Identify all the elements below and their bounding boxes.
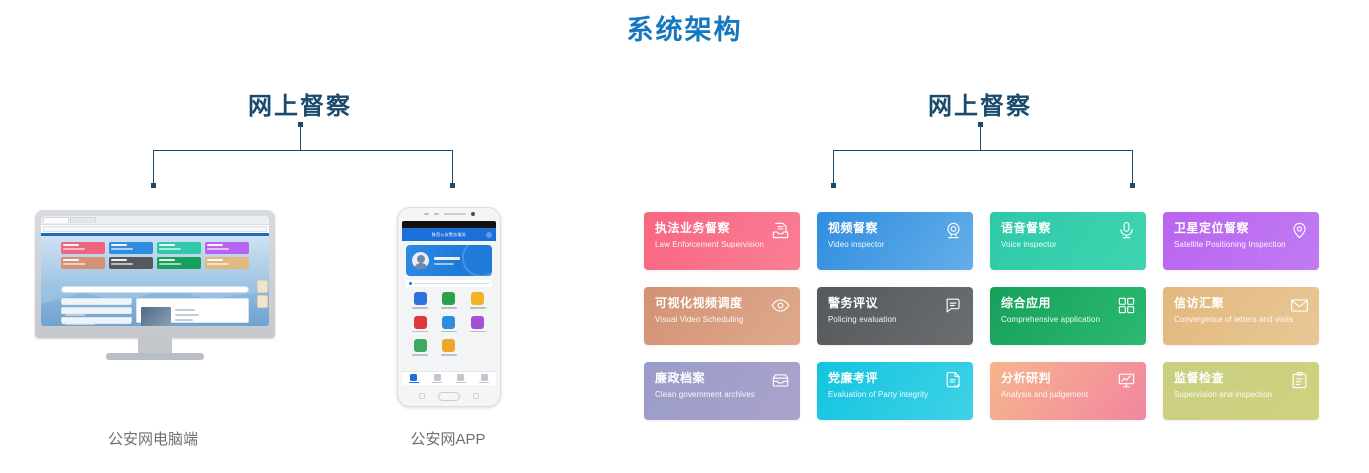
portal-mini-card xyxy=(205,257,249,269)
map-pin-icon xyxy=(1290,221,1309,240)
inbox-document-icon xyxy=(771,221,790,240)
grid-squares-icon xyxy=(1117,296,1136,315)
app-grid-item[interactable] xyxy=(435,339,464,356)
app-grid-item[interactable] xyxy=(435,316,464,333)
module-card-title-cn: 监督检查 xyxy=(1174,372,1308,384)
portal-mini-card xyxy=(157,242,201,254)
avatar xyxy=(412,252,429,269)
module-card-title-cn: 可视化视频调度 xyxy=(655,297,789,309)
portal-side-widgets xyxy=(257,280,268,310)
app-grid-item[interactable] xyxy=(435,292,464,309)
module-card[interactable]: 警务评议Policing evaluation xyxy=(817,287,973,345)
section-heading-left: 网上督察 xyxy=(180,86,420,121)
portal-mini-card xyxy=(61,242,105,254)
device-label-pc: 公安网电脑端 xyxy=(53,428,253,449)
module-card[interactable]: 视频督察Video inspector xyxy=(817,212,973,270)
module-card[interactable]: 廉政档案Clean government archives xyxy=(644,362,800,420)
desktop-monitor-icon xyxy=(35,210,275,370)
app-grid-item[interactable] xyxy=(463,292,492,309)
portal-card-grid xyxy=(61,242,249,269)
section-heading-right: 网上督察 xyxy=(860,86,1100,121)
module-card[interactable]: 党廉考评Evaluation of Party integrity xyxy=(817,362,973,420)
app-icon-grid xyxy=(406,292,492,356)
module-card[interactable]: 综合应用Comprehensive application xyxy=(990,287,1146,345)
module-card-title-en: Voice inspector xyxy=(1001,241,1135,250)
module-card[interactable]: 分析研判Analysis and judgement xyxy=(990,362,1146,420)
module-card-title-cn: 分析研判 xyxy=(1001,372,1135,384)
module-card-title-en: Comprehensive application xyxy=(1001,316,1135,325)
device-label-app: 公安网APP xyxy=(348,428,548,449)
app-message-icon xyxy=(486,232,492,238)
module-card[interactable]: 卫星定位督察Satellite Positioning Inspection xyxy=(1163,212,1319,270)
module-card[interactable]: 监督检查Supervision and inspection xyxy=(1163,362,1319,420)
portal-mini-card xyxy=(109,242,153,254)
app-navbar: 陕西公安警务服务 xyxy=(402,228,496,241)
app-tab-home[interactable] xyxy=(402,372,426,385)
module-card-title-en: Evaluation of Party integrity xyxy=(828,391,962,400)
browser-chrome xyxy=(41,216,269,225)
portal-mini-card xyxy=(109,257,153,269)
module-card-title-en: Analysis and judgement xyxy=(1001,391,1135,400)
app-tab-bar xyxy=(402,371,496,385)
module-card-title-cn: 执法业务督察 xyxy=(655,222,789,234)
module-card-grid: 执法业务督察Law Enforcement Supervision视频督察Vid… xyxy=(644,212,1324,420)
module-card-title-en: Supervision and inspection xyxy=(1174,391,1308,400)
page-title: 系统架构 xyxy=(0,8,1369,47)
chart-board-icon xyxy=(1117,371,1136,390)
module-card-title-en: Clean government archives xyxy=(655,391,789,400)
system-architecture-diagram: 系统架构 网上督察 网上督察 xyxy=(0,0,1369,473)
module-card-title-en: Satellite Positioning Inspection xyxy=(1174,241,1308,250)
app-profile-card xyxy=(406,245,492,276)
portal-mini-card xyxy=(61,257,105,269)
module-card-title-en: Convergence of letters and visits xyxy=(1174,316,1308,325)
module-card-title-cn: 视频督察 xyxy=(828,222,962,234)
mobile-phone-icon: 陕西公安警务服务 xyxy=(397,207,501,407)
app-grid-item[interactable] xyxy=(406,339,435,356)
document-check-icon xyxy=(944,371,963,390)
portal-mini-card xyxy=(205,242,249,254)
comment-bubble-icon xyxy=(944,296,963,315)
clipboard-list-icon xyxy=(1290,371,1309,390)
eye-icon xyxy=(771,296,790,315)
module-card-title-cn: 语音督察 xyxy=(1001,222,1135,234)
microphone-icon xyxy=(1117,221,1136,240)
app-tab-news[interactable] xyxy=(449,372,473,385)
phone-home-button xyxy=(438,392,460,401)
app-grid-item[interactable] xyxy=(463,316,492,333)
module-card-title-cn: 卫星定位督察 xyxy=(1174,222,1308,234)
envelope-icon xyxy=(1290,296,1309,315)
app-tab-mine[interactable] xyxy=(473,372,497,385)
app-tab-work[interactable] xyxy=(426,372,450,385)
portal-mini-card xyxy=(157,257,201,269)
app-grid-item[interactable] xyxy=(406,316,435,333)
module-card[interactable]: 信访汇聚Convergence of letters and visits xyxy=(1163,287,1319,345)
webcam-icon xyxy=(944,221,963,240)
app-notice-bar xyxy=(406,280,492,287)
module-card[interactable]: 执法业务督察Law Enforcement Supervision xyxy=(644,212,800,270)
module-card-title-cn: 警务评议 xyxy=(828,297,962,309)
module-card-title-cn: 综合应用 xyxy=(1001,297,1135,309)
module-card-title-en: Visual Video Scheduling xyxy=(655,316,789,325)
module-card-title-cn: 廉政档案 xyxy=(655,372,789,384)
module-card-title-en: Video inspector xyxy=(828,241,962,250)
module-card[interactable]: 可视化视频调度Visual Video Scheduling xyxy=(644,287,800,345)
app-nav-title: 陕西公安警务服务 xyxy=(432,232,466,238)
file-tray-icon xyxy=(771,371,790,390)
module-card-title-en: Law Enforcement Supervision xyxy=(655,241,789,250)
module-card-title-en: Policing evaluation xyxy=(828,316,962,325)
module-card[interactable]: 语音督察Voice inspector xyxy=(990,212,1146,270)
app-grid-item[interactable] xyxy=(406,292,435,309)
portal-search-bar xyxy=(61,286,249,293)
module-card-title-cn: 党廉考评 xyxy=(828,372,962,384)
module-card-title-cn: 信访汇聚 xyxy=(1174,297,1308,309)
